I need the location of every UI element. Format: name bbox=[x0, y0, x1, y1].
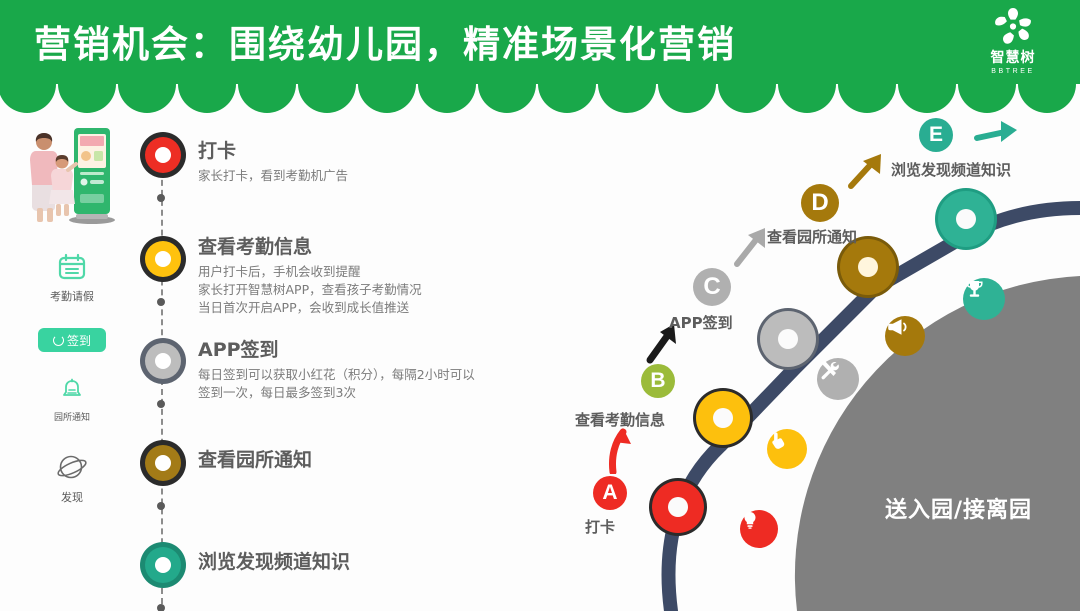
timeline-text-4: 查看园所通知 bbox=[198, 445, 312, 472]
logo-en-text: BBTREE bbox=[991, 68, 1035, 75]
badge-C[interactable]: C bbox=[693, 268, 731, 306]
sidebar-item-attendance[interactable]: 考勤请假 bbox=[18, 252, 126, 304]
trophy-icon bbox=[963, 278, 986, 301]
step-label-C: APP签到 bbox=[669, 312, 733, 333]
flower-icon bbox=[992, 6, 1034, 46]
step-label-B: 查看考勤信息 bbox=[575, 409, 665, 430]
circle-icon bbox=[53, 335, 64, 346]
badge-A[interactable]: A bbox=[593, 476, 627, 510]
calendar-icon bbox=[57, 252, 87, 282]
step-label-A: 打卡 bbox=[585, 516, 615, 537]
sidebar: 考勤请假 签到 园所通知 发现 bbox=[18, 120, 130, 505]
timeline-title-1: 打卡 bbox=[198, 136, 348, 163]
logo-cn-text: 智慧树 bbox=[991, 47, 1036, 67]
megaphone-icon bbox=[885, 316, 907, 338]
arrow-A-icon bbox=[599, 426, 639, 474]
timeline-dot-5 bbox=[157, 604, 165, 611]
scalloped-edge bbox=[0, 84, 1080, 114]
dropoff-zone-label: 送入园/接离园 bbox=[885, 492, 1032, 524]
timeline-dot-2 bbox=[157, 298, 165, 306]
sidebar-item-notice[interactable]: 园所通知 bbox=[18, 378, 126, 423]
sidebar-label-notice: 园所通知 bbox=[54, 410, 90, 423]
step-label-D: 查看园所通知 bbox=[767, 226, 857, 247]
sidebar-item-checkin[interactable]: 签到 bbox=[18, 328, 126, 352]
slide-canvas: 营销机会：围绕幼儿园，精准场景化营销 智慧树 BBTREE bbox=[0, 0, 1080, 611]
sidebar-label-attendance: 考勤请假 bbox=[50, 288, 94, 304]
badge-B[interactable]: B bbox=[641, 364, 675, 398]
timeline-text-2: 查看考勤信息 用户打卡后，手机会收到提醒 家长打开智慧树APP，查看孩子考勤情况… bbox=[198, 232, 422, 317]
timeline-node-2[interactable] bbox=[140, 236, 186, 282]
timeline-desc-1: 家长打卡，看到考勤机广告 bbox=[198, 167, 348, 185]
brand-logo: 智慧树 BBTREE bbox=[974, 6, 1052, 82]
timeline-text-1: 打卡 家长打卡，看到考勤机广告 bbox=[198, 136, 348, 185]
badge-D[interactable]: D bbox=[801, 184, 839, 222]
checkin-button-label: 签到 bbox=[67, 332, 91, 349]
timeline-dot-4 bbox=[157, 502, 165, 510]
planet-icon bbox=[55, 451, 89, 483]
page-title: 营销机会：围绕幼儿园，精准场景化营销 bbox=[34, 14, 736, 68]
step-label-E: 浏览发现频道知识 bbox=[891, 159, 1011, 180]
arrow-E-icon bbox=[973, 118, 1027, 154]
timeline-dot-1 bbox=[157, 194, 165, 202]
timeline-dot-3 bbox=[157, 400, 165, 408]
path-node-A[interactable] bbox=[649, 478, 707, 536]
path-node-E[interactable] bbox=[935, 188, 997, 250]
badge-E[interactable]: E bbox=[919, 118, 953, 152]
mini-icon-tools[interactable] bbox=[817, 358, 859, 400]
path-node-B[interactable] bbox=[693, 388, 753, 448]
timeline-node-5[interactable] bbox=[140, 542, 186, 588]
mini-icon-lightbulb[interactable] bbox=[740, 510, 778, 548]
sidebar-item-discover[interactable]: 发现 bbox=[18, 451, 126, 505]
timeline-title-3: APP签到 bbox=[198, 335, 475, 362]
timeline-node-4[interactable] bbox=[140, 440, 186, 486]
mini-icon-hand-tap[interactable] bbox=[767, 429, 807, 469]
timeline-node-1[interactable] bbox=[140, 132, 186, 178]
bell-icon bbox=[59, 378, 85, 404]
journey-diagram: A 打卡 B 查看考勤信息 C APP签到 D 查看园所通知 E 浏览发现频道知… bbox=[545, 96, 1080, 611]
hand-tap-icon bbox=[767, 429, 789, 451]
tools-icon bbox=[817, 358, 841, 382]
timeline-title-2: 查看考勤信息 bbox=[198, 232, 422, 259]
mini-icon-trophy[interactable] bbox=[963, 278, 1005, 320]
timeline-title-4: 查看园所通知 bbox=[198, 445, 312, 472]
timeline-desc-3: 每日签到可以获取小红花（积分），每隔2小时可以 签到一次，每日最多签到3次 bbox=[198, 366, 475, 402]
checkin-button[interactable]: 签到 bbox=[38, 328, 106, 352]
timeline: 打卡 家长打卡，看到考勤机广告 查看考勤信息 用户打卡后，手机会收到提醒 家长打… bbox=[140, 132, 560, 602]
mini-icon-megaphone[interactable] bbox=[885, 316, 925, 356]
kiosk-photo bbox=[18, 120, 126, 230]
timeline-text-5: 浏览发现频道知识 bbox=[198, 547, 350, 574]
sidebar-label-discover: 发现 bbox=[61, 489, 83, 505]
path-node-C[interactable] bbox=[757, 308, 819, 370]
arrow-D-icon bbox=[845, 146, 893, 192]
timeline-node-3[interactable] bbox=[140, 338, 186, 384]
header-band: 营销机会：围绕幼儿园，精准场景化营销 智慧树 BBTREE bbox=[0, 0, 1080, 84]
timeline-desc-2: 用户打卡后，手机会收到提醒 家长打开智慧树APP，查看孩子考勤情况 当日首次开启… bbox=[198, 263, 422, 317]
lightbulb-icon bbox=[740, 510, 760, 530]
timeline-text-3: APP签到 每日签到可以获取小红花（积分），每隔2小时可以 签到一次，每日最多签… bbox=[198, 335, 475, 402]
timeline-title-5: 浏览发现频道知识 bbox=[198, 547, 350, 574]
